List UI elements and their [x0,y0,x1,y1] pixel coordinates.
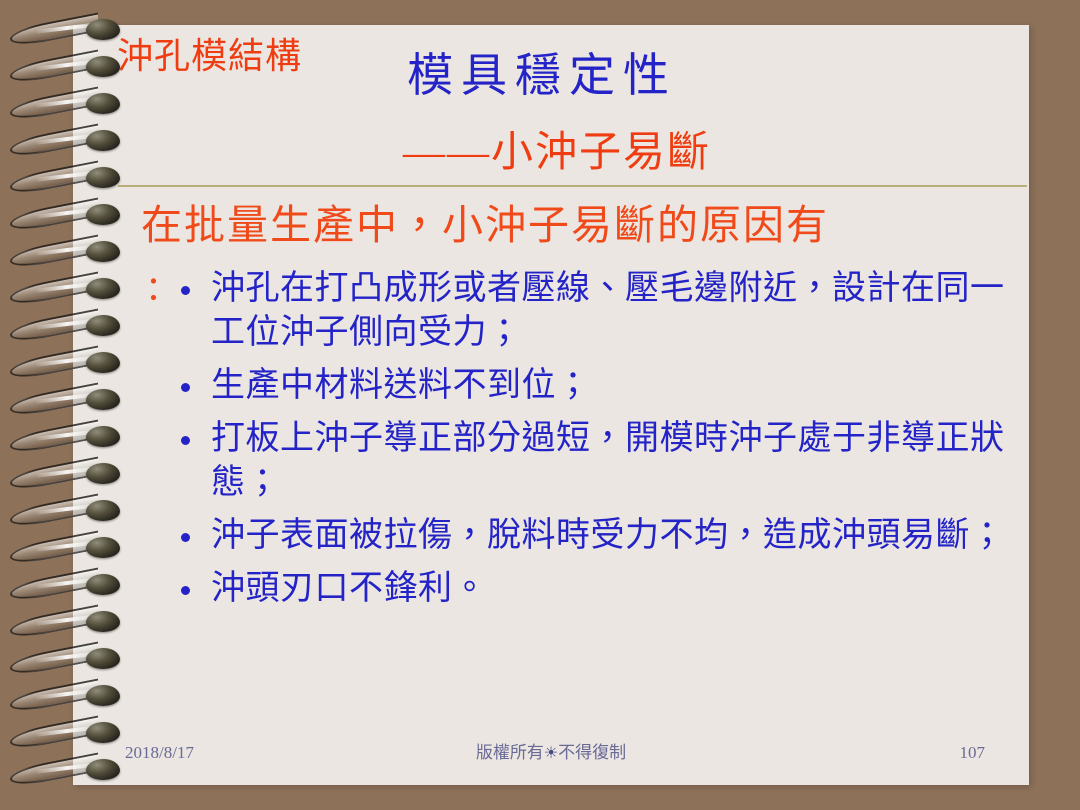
sun-icon: ☀ [544,746,558,762]
slide-kicker: 沖孔模結構 [117,38,302,74]
lead-statement: 在批量生產中，小沖子易斷的原因有 [141,205,829,246]
list-item: 沖頭刃口不鋒利。 [169,567,1014,611]
list-item-text: 生產中材料送料不到位； [211,364,1014,408]
footer-page-number: 107 [960,739,986,767]
reason-list: 沖孔在打凸成形或者壓線、壓毛邊附近，設計在同一工位沖子側向受力； 生產中材料送料… [169,267,1014,620]
header-divider [118,185,1027,187]
list-item-text: 沖子表面被拉傷，脫料時受力不均，造成沖頭易斷； [211,514,1014,558]
page-title: 模具穩定性 [407,53,677,99]
slide-paper-card: 沖孔模結構 模具穩定性 ——小沖子易斷 在批量生產中，小沖子易斷的原因有 ： 沖… [73,25,1029,785]
list-item: 打板上沖子導正部分過短，開模時沖子處于非導正狀態； [169,417,1014,505]
slide-footer: 2018/8/17 版權所有☀不得復制 107 [73,739,1029,767]
footer-copyright-right: 不得復制 [558,743,626,762]
list-item-text: 沖孔在打凸成形或者壓線、壓毛邊附近，設計在同一工位沖子側向受力； [211,267,1014,355]
slide-header: 沖孔模結構 模具穩定性 ——小沖子易斷 [73,25,1029,190]
slide-stage: 沖孔模結構 模具穩定性 ——小沖子易斷 在批量生產中，小沖子易斷的原因有 ： 沖… [0,0,1080,810]
bullet-dot-icon [181,436,190,445]
list-item-text: 打板上沖子導正部分過短，開模時沖子處于非導正狀態； [211,417,1014,505]
list-item-text: 沖頭刃口不鋒利。 [211,567,1014,611]
list-item: 沖子表面被拉傷，脫料時受力不均，造成沖頭易斷； [169,514,1014,558]
list-item: 生產中材料送料不到位； [169,364,1014,408]
bullet-dot-icon [181,383,190,392]
footer-copyright-left: 版權所有 [476,743,544,762]
page-subtitle: ——小沖子易斷 [403,132,711,174]
footer-copyright: 版權所有☀不得復制 [73,739,1029,767]
bullet-dot-icon [181,286,190,295]
bullet-dot-icon [181,533,190,542]
bullet-dot-icon [181,586,190,595]
list-item: 沖孔在打凸成形或者壓線、壓毛邊附近，設計在同一工位沖子側向受力； [169,267,1014,355]
